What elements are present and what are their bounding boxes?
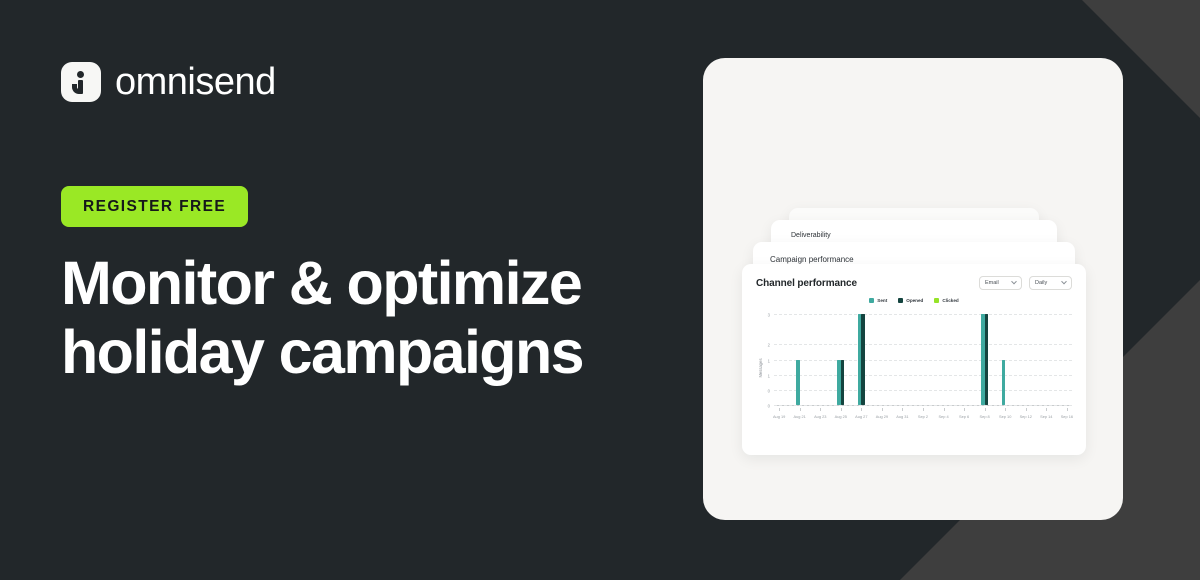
channel-performance-card[interactable]: Channel performance Email Daily SentOpen… <box>742 264 1086 455</box>
x-axis-tick-label: Sep 12 <box>1020 414 1032 419</box>
x-axis-tick-mark <box>861 408 862 411</box>
legend-item-sent[interactable]: Sent <box>869 298 887 303</box>
x-axis-tick-label: Aug 27 <box>855 414 867 419</box>
x-axis-tick-label: Aug 23 <box>814 414 826 419</box>
x-axis-tick-mark <box>1046 408 1047 411</box>
dashboard-preview-panel: Deliverability Campaign performance Chan… <box>703 58 1123 520</box>
x-axis-tick-label: Aug 21 <box>794 414 806 419</box>
x-axis-tick-mark <box>985 408 986 411</box>
headline-line-1: Monitor & optimize <box>61 253 661 314</box>
legend-swatch-icon <box>869 298 874 303</box>
legend-swatch-icon <box>934 298 939 303</box>
x-axis-tick-mark <box>964 408 965 411</box>
legend-item-clicked[interactable]: Clicked <box>934 298 958 303</box>
bar-sent-aug-21 <box>796 360 799 406</box>
y-axis-tick-label: 1 <box>768 373 770 378</box>
stacked-card-campaign-performance-title: Campaign performance <box>753 242 1075 264</box>
x-axis-tick-label: Sep 16 <box>1061 414 1073 419</box>
channel-performance-title: Channel performance <box>756 278 857 289</box>
stacked-card-deliverability-title: Deliverability <box>771 220 1057 239</box>
y-axis-tick-label: 2 <box>768 343 770 348</box>
chart-bars <box>774 314 1072 405</box>
x-axis-tick-mark <box>1005 408 1006 411</box>
x-axis-tick-mark <box>902 408 903 411</box>
x-axis-tick-label: Sep 10 <box>999 414 1011 419</box>
x-axis-tick-mark <box>820 408 821 411</box>
y-axis-tick-label: 1 <box>768 358 770 363</box>
y-axis-tick-label: 0 <box>768 388 770 393</box>
x-axis-tick-label: Sep 8 <box>980 414 990 419</box>
x-axis-tick-label: Sep 4 <box>938 414 948 419</box>
channel-performance-chart: Messages 001123 Aug 19Aug 21Aug 23Aug 25… <box>752 310 1076 426</box>
x-axis-tick-mark <box>882 408 883 411</box>
bar-opened-sep-8 <box>985 314 988 405</box>
chart-plot-area: 001123 <box>774 314 1072 406</box>
x-axis-tick-label: Aug 25 <box>835 414 847 419</box>
x-axis-tick-label: Aug 19 <box>773 414 785 419</box>
x-axis-tick-mark <box>779 408 780 411</box>
x-axis-tick-mark <box>1067 408 1068 411</box>
x-axis-tick-label: Sep 2 <box>918 414 928 419</box>
omnisend-logo-mark-icon <box>61 62 101 102</box>
headline-line-2: holiday campaigns <box>61 322 661 383</box>
legend-swatch-icon <box>898 298 903 303</box>
brand-logo[interactable]: omnisend <box>61 58 661 106</box>
y-axis-tick-label: 0 <box>768 404 770 409</box>
promo-banner: omnisend REGISTER FREE Monitor & optimiz… <box>0 0 1200 580</box>
channel-select[interactable]: Email <box>979 276 1022 290</box>
channel-select-value: Email <box>985 280 999 286</box>
logo-dot <box>77 71 84 78</box>
left-content-column: omnisend REGISTER FREE Monitor & optimiz… <box>61 58 661 383</box>
legend-item-opened[interactable]: Opened <box>898 298 923 303</box>
bar-sent-sep-10 <box>1002 360 1005 406</box>
chart-legend: SentOpenedClicked <box>742 298 1086 303</box>
bar-opened-aug-25 <box>841 360 844 406</box>
interval-select[interactable]: Daily <box>1029 276 1072 290</box>
interval-select-value: Daily <box>1035 280 1047 286</box>
x-axis-tick-mark <box>841 408 842 411</box>
register-free-button[interactable]: REGISTER FREE <box>61 186 248 227</box>
x-axis-tick-label: Aug 31 <box>896 414 908 419</box>
x-axis-tick-mark <box>944 408 945 411</box>
bar-opened-aug-27 <box>861 314 864 405</box>
legend-label: Opened <box>906 298 923 303</box>
x-axis-tick-mark <box>1026 408 1027 411</box>
logo-foot <box>72 84 79 94</box>
channel-performance-controls: Email Daily <box>979 276 1072 290</box>
chevron-down-icon <box>1061 279 1067 285</box>
x-axis-tick-mark <box>923 408 924 411</box>
y-axis-tick-label: 3 <box>768 313 770 318</box>
chart-x-axis: Aug 19Aug 21Aug 23Aug 25Aug 27Aug 29Aug … <box>774 408 1072 424</box>
x-axis-tick-label: Aug 29 <box>876 414 888 419</box>
legend-label: Clicked <box>942 298 958 303</box>
x-axis-tick-label: Sep 14 <box>1040 414 1052 419</box>
x-axis-tick-mark <box>800 408 801 411</box>
gridline: 0 <box>774 405 1072 406</box>
page-title: Monitor & optimize holiday campaigns <box>61 253 661 383</box>
chart-y-axis-label: Messages <box>758 358 763 377</box>
brand-wordmark: omnisend <box>115 63 276 101</box>
channel-performance-header: Channel performance Email Daily <box>742 264 1086 290</box>
chevron-down-icon <box>1011 279 1017 285</box>
legend-label: Sent <box>877 298 887 303</box>
x-axis-tick-label: Sep 6 <box>959 414 969 419</box>
